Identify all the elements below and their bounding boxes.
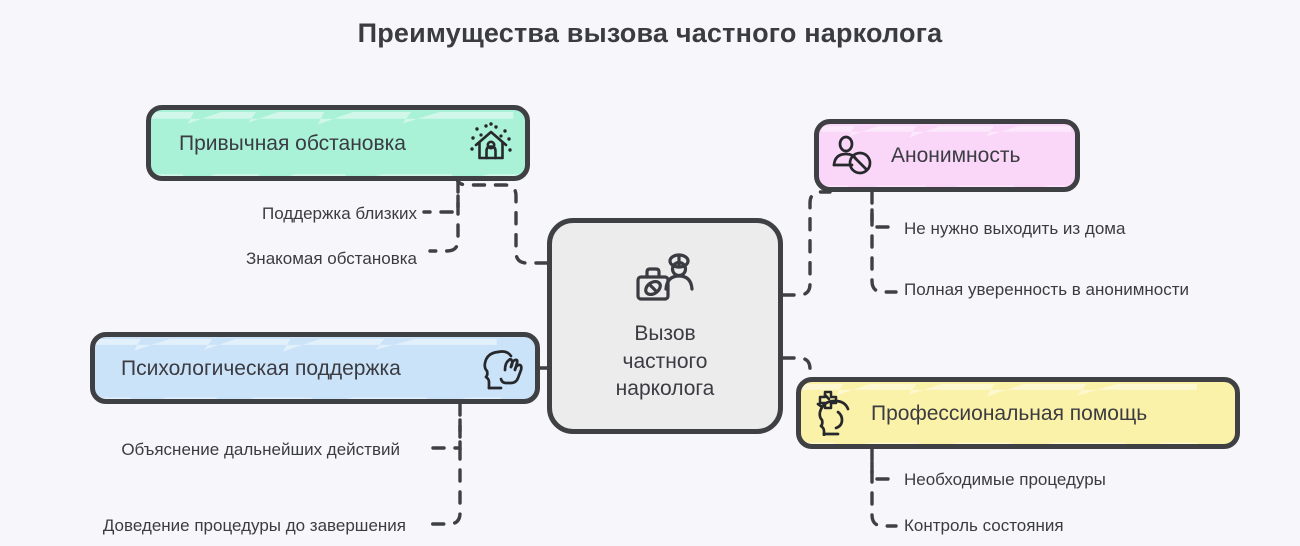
edge-anonymity-trunk (872, 192, 896, 292)
leaf-label-anonymity-1: Не нужно выходить из дома (904, 220, 1125, 237)
branch-label-prof: Профессиональная помощь (871, 403, 1147, 424)
leaf-label-prof-1: Необходимые процедуры (904, 471, 1106, 488)
leaf-label-psych-1: Объяснение дальнейших действий (121, 441, 400, 458)
mindmap-canvas: Преимущества вызова частного нарколога (0, 0, 1300, 546)
edge-prof-trunk (872, 449, 896, 526)
head-with-hand-icon (479, 346, 525, 390)
head-with-medical-cross-icon (811, 390, 859, 436)
person-blocked-icon (831, 135, 877, 177)
leaf-label-anonymity-2: Полная уверенность в анонимности (904, 281, 1189, 298)
page-title: Преимущества вызова частного нарколога (0, 18, 1300, 49)
leaf-label-prof-2: Контроль состояния (904, 517, 1064, 534)
edge-center-familiar (456, 174, 547, 263)
edge-anonymity-leaf-1 (872, 210, 898, 227)
center-node-label: Вызов частного нарколога (616, 320, 715, 403)
branch-label-familiar: Привычная обстановка (179, 133, 406, 154)
branch-node-familiar[interactable]: Привычная обстановка (146, 105, 530, 181)
branch-label-psych: Психологическая поддержка (121, 358, 401, 379)
leaf-label-familiar-2: Знакомая обстановка (246, 250, 417, 267)
leaf-label-familiar-1: Поддержка близких (262, 205, 417, 222)
branch-node-prof[interactable]: Профессиональная помощь (796, 377, 1240, 449)
branch-node-psych[interactable]: Психологическая поддержка (90, 332, 540, 404)
center-node[interactable]: Вызов частного нарколога (547, 218, 783, 434)
edge-center-anonymity (783, 192, 830, 295)
edge-familiar-trunk (430, 181, 458, 251)
edge-center-prof (783, 358, 810, 377)
house-with-person-icon (467, 119, 515, 167)
branch-label-anonymity: Анонимность (891, 145, 1020, 166)
edge-prof-leaf-1 (872, 462, 898, 479)
doctor-with-medical-bag-icon (628, 249, 702, 310)
leaf-label-psych-2: Доведение процедуры до завершения (103, 517, 406, 534)
edge-familiar-leaf-1 (424, 196, 458, 212)
branch-node-anonymity[interactable]: Анонимность (814, 119, 1080, 192)
edge-psych-trunk (430, 404, 460, 524)
edge-psych-leaf-1 (430, 420, 460, 448)
